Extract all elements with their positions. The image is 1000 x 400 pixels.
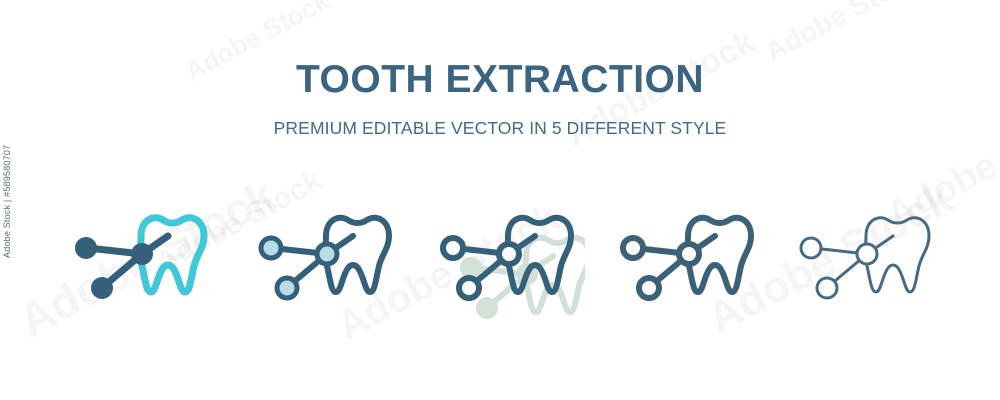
forceps-joint-circle — [75, 237, 97, 259]
forceps-handle-circle — [817, 278, 837, 298]
ghost-handle-circle — [476, 297, 498, 319]
forceps-pivot-circle — [317, 244, 337, 264]
forceps-joint-circle — [623, 238, 643, 258]
icon-variant-filled[interactable] — [68, 196, 218, 331]
forceps-handle-circle — [277, 278, 297, 298]
forceps-joint-circle — [443, 238, 463, 258]
icon-variant-duotone[interactable] — [435, 196, 585, 331]
forceps-joint-circle — [801, 238, 821, 258]
forceps-handle-circle — [459, 278, 479, 298]
icon-variant-outline-filled-joints[interactable] — [253, 196, 403, 331]
forceps-handle-circle — [639, 278, 659, 298]
forceps-joint-circle — [261, 238, 281, 258]
forceps-pivot-circle — [679, 244, 699, 264]
side-watermark: Adobe Stock | #589580707 — [2, 145, 12, 258]
forceps-handle-circle — [91, 277, 113, 299]
forceps-pivot-circle — [499, 244, 519, 264]
forceps-pivot-circle — [857, 244, 877, 264]
page-subtitle: PREMIUM EDITABLE VECTOR IN 5 DIFFERENT S… — [0, 118, 1000, 139]
icon-variant-thin-line[interactable] — [793, 196, 943, 331]
stock-image-canvas: Adobe Stock Adobe Stock Adobe Stock Adob… — [0, 0, 1000, 400]
icon-variant-outline[interactable] — [615, 196, 765, 331]
icon-row — [0, 196, 1000, 331]
forceps-pivot-circle — [131, 243, 153, 265]
page-title: TOOTH EXTRACTION — [0, 58, 1000, 102]
